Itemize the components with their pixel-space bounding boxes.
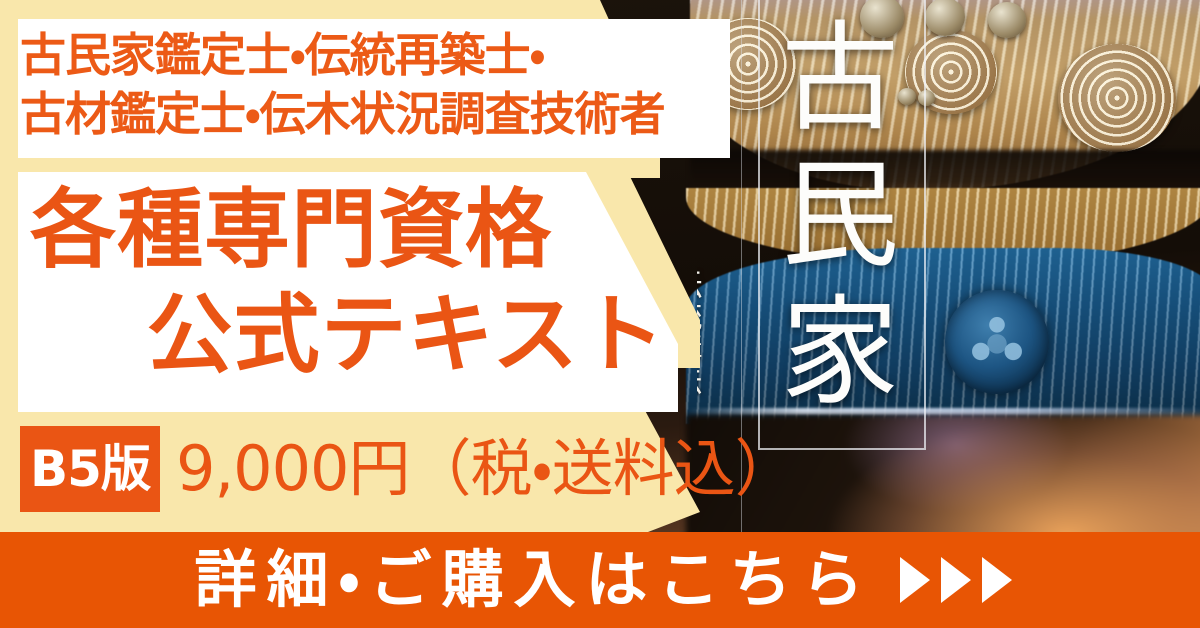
qualifications-line-1: 古民家鑑定士・伝統再築士・ (20, 26, 724, 85)
cta-label: 詳細・ご購入はこちら (170, 549, 873, 611)
qualifications-text: 古民家鑑定士・伝統再築士・ 古材鑑定士・伝木状況調査技術者 (20, 26, 724, 144)
triangle-right-icon (900, 557, 930, 603)
format-badge: B5版 (20, 426, 160, 512)
triangle-right-icon (941, 557, 971, 603)
headline-line-2: 公式テキスト (24, 283, 672, 388)
headline-text: 各種専門資格 公式テキスト (24, 178, 672, 388)
scroll-curl-icon (1058, 44, 1176, 152)
family-crest-medallion (945, 290, 1049, 394)
promo-banner: 古民家 伝統構法 古民家活用のための調査と再生の 古民家鑑定士・伝統再築士・ 古… (0, 0, 1200, 628)
headline-line-1: 各種専門資格 (24, 178, 672, 283)
cover-title: 古民家 (776, 10, 904, 421)
qualifications-line-2: 古材鑑定士・伝木状況調査技術者 (20, 85, 724, 144)
relief-knob (988, 2, 1026, 38)
cover-title-char: 古民家 (776, 10, 904, 421)
cta-button[interactable]: 詳細・ご購入はこちら (0, 532, 1200, 628)
cta-arrows (900, 557, 1030, 603)
triangle-right-icon (982, 557, 1012, 603)
price-text: 9,000円（税・送料込） (176, 424, 796, 514)
